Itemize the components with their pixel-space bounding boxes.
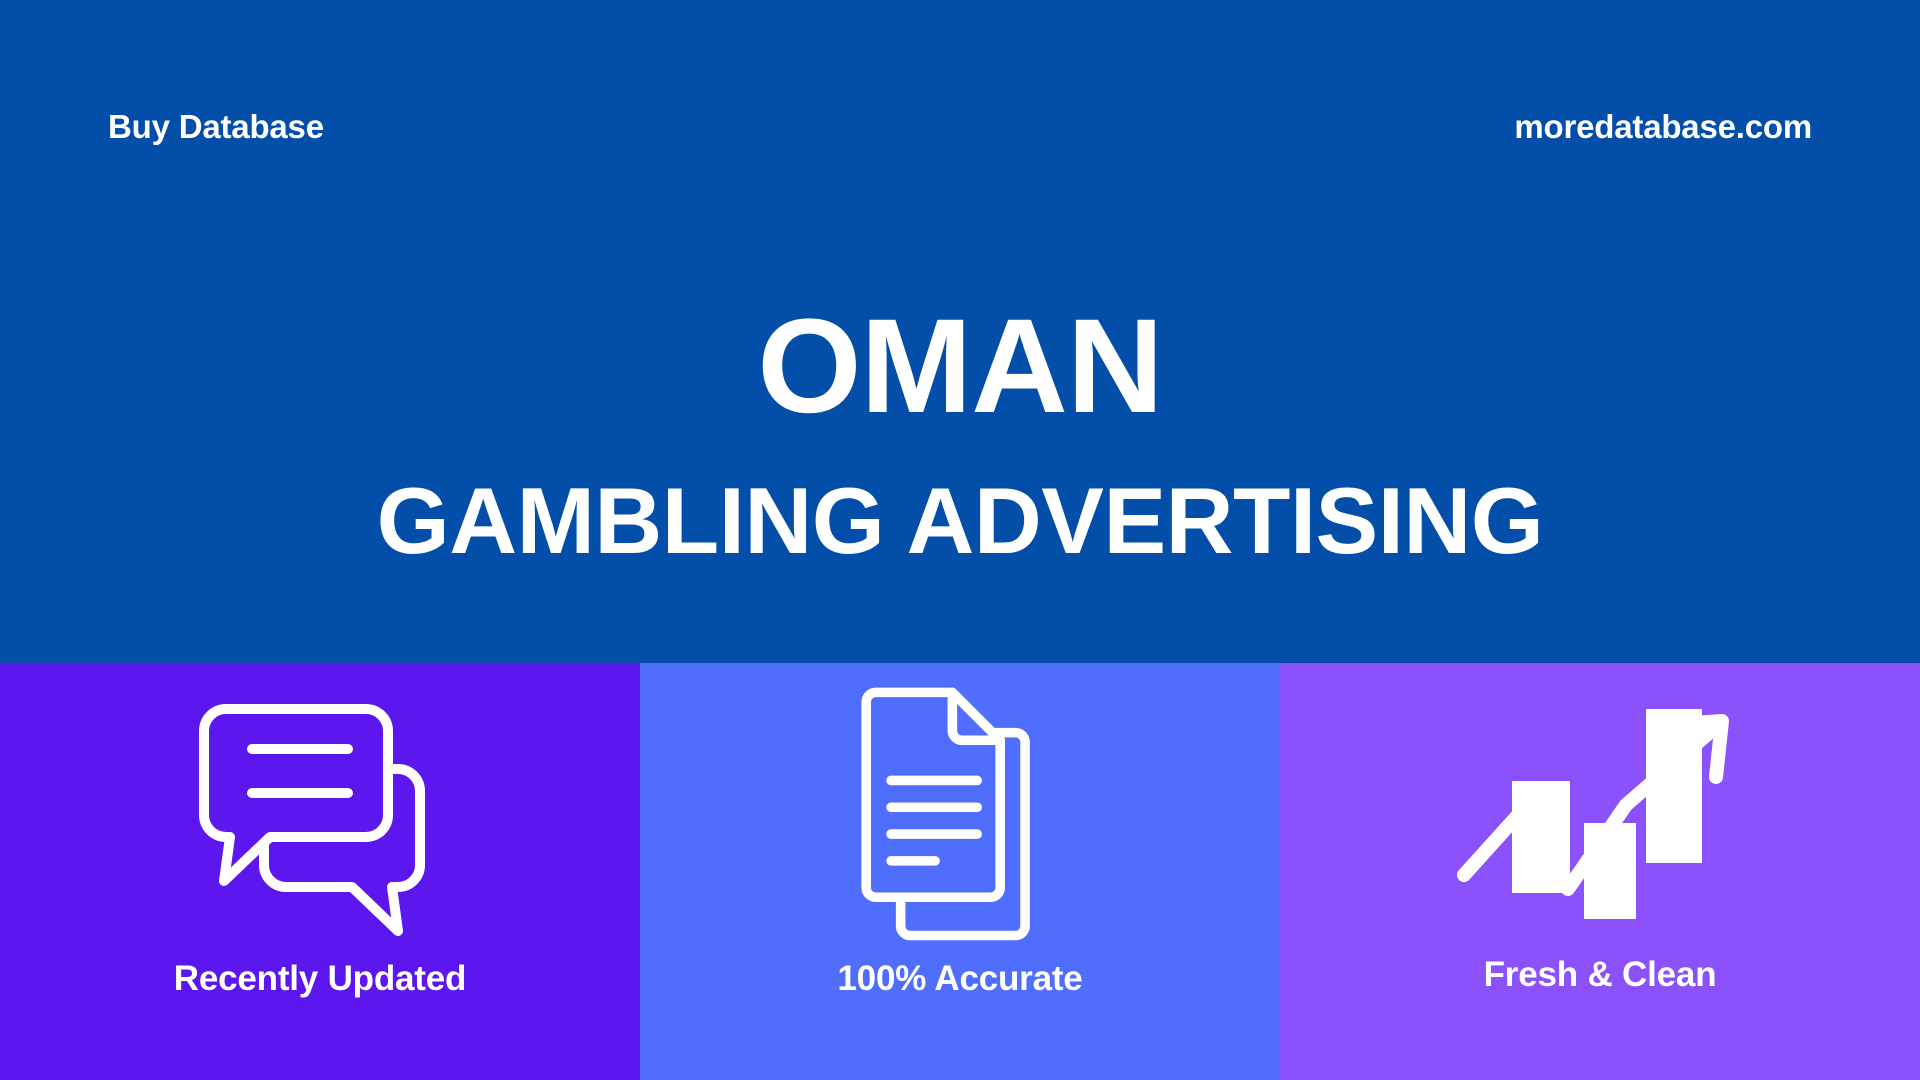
page-subtitle: GAMBLING ADVERTISING bbox=[0, 474, 1920, 568]
banner-header: Buy Database moredatabase.com OMAN GAMBL… bbox=[0, 0, 1920, 663]
website-url[interactable]: moredatabase.com bbox=[1514, 110, 1812, 143]
hero-text-block: OMAN GAMBLING ADVERTISING bbox=[0, 300, 1920, 568]
growth-chart-icon bbox=[1450, 693, 1750, 943]
feature-label: Fresh & Clean bbox=[1484, 957, 1717, 992]
documents-icon bbox=[830, 679, 1090, 947]
feature-panels: Recently Updated 100% Acc bbox=[0, 663, 1920, 1080]
feature-panel-recently-updated[interactable]: Recently Updated bbox=[0, 663, 640, 1080]
feature-label: 100% Accurate bbox=[837, 961, 1082, 996]
feature-panel-accurate[interactable]: 100% Accurate bbox=[640, 663, 1280, 1080]
feature-label: Recently Updated bbox=[174, 961, 466, 996]
page-title: OMAN bbox=[0, 300, 1920, 434]
promo-banner: Buy Database moredatabase.com OMAN GAMBL… bbox=[0, 0, 1920, 1080]
chat-bubbles-icon bbox=[190, 687, 450, 947]
brand-name: Buy Database bbox=[108, 110, 324, 143]
feature-panel-fresh-clean[interactable]: Fresh & Clean bbox=[1280, 663, 1920, 1080]
